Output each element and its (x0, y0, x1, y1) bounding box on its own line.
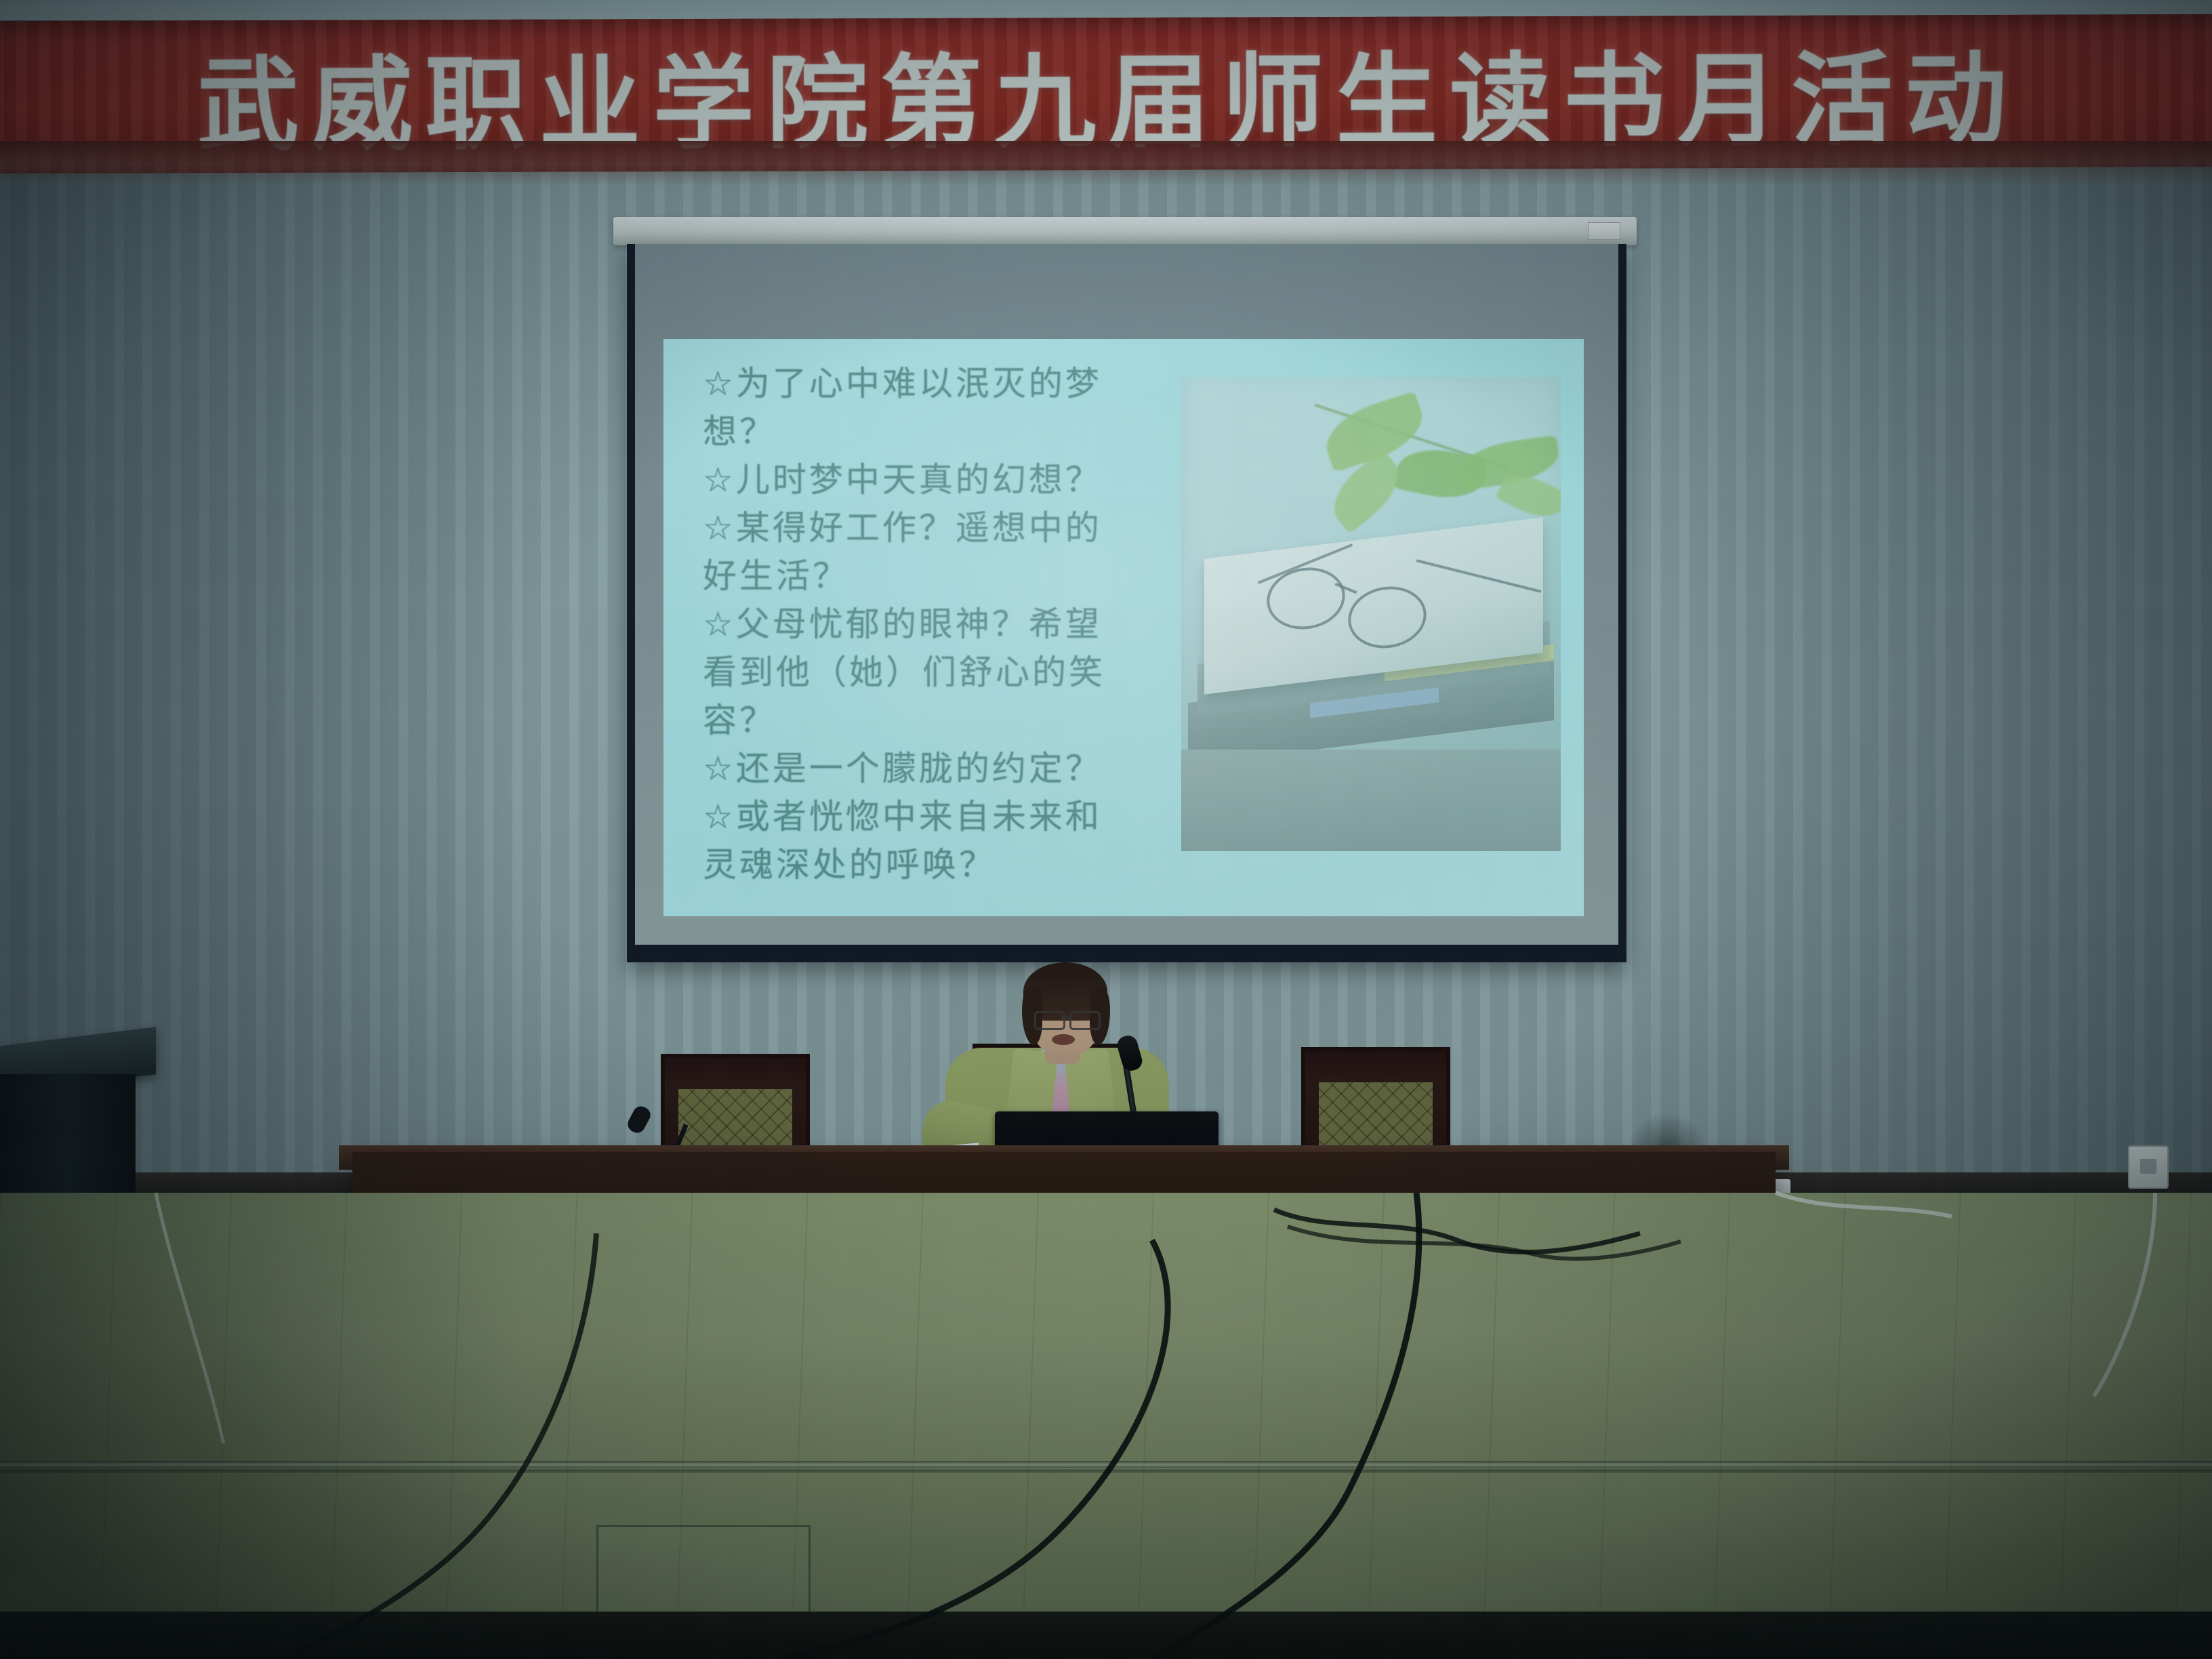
glasses-temple-right (1416, 559, 1541, 593)
speaker-glasses-left (1034, 1011, 1065, 1030)
slide-photo-books-and-glasses (1181, 377, 1561, 851)
slide-line: ☆还是一个朦胧的约定？ (703, 747, 1164, 791)
floor-cables (0, 1152, 2212, 1659)
slide-line: ☆为了心中难以泯灭的梦 (703, 362, 1164, 406)
slide-line: 灵魂深处的呼唤？ (703, 843, 1164, 887)
glasses-lens-left (1262, 562, 1350, 636)
slide-line: ☆或者恍惚中来自未来和 (703, 795, 1164, 839)
projected-slide: ☆为了心中难以泯灭的梦 想？ ☆儿时梦中天真的幻想？ ☆某得好工作？遥想中的 好… (663, 339, 1584, 916)
screen-roller-tab (1588, 222, 1620, 240)
slide-line: ☆某得好工作？遥想中的 (703, 506, 1164, 550)
speaker-mouth (1052, 1034, 1075, 1045)
projector-screen: ☆为了心中难以泯灭的梦 想？ ☆儿时梦中天真的幻想？ ☆某得好工作？遥想中的 好… (627, 244, 1626, 962)
slide-text-block: ☆为了心中难以泯灭的梦 想？ ☆儿时梦中天真的幻想？ ☆某得好工作？遥想中的 好… (703, 362, 1164, 891)
slide-line: 看到他（她）们舒心的笑 (703, 651, 1164, 695)
slide-line: ☆父母忧郁的眼神？希望 (703, 602, 1164, 647)
projector-screen-housing (613, 217, 1637, 245)
speaker-glasses-right (1069, 1011, 1101, 1030)
banner-lower-fold (0, 141, 2212, 186)
slide-line: 容？ (703, 699, 1164, 743)
eyeglasses-icon (1254, 552, 1546, 647)
slide-line: ☆儿时梦中天真的幻想？ (703, 458, 1164, 502)
banner-region: 武威职业学院第九届师生读书月活动 (0, 0, 2212, 210)
slide-line: 想？ (703, 410, 1164, 454)
photo-table-surface (1181, 750, 1561, 851)
photograph-scene: 武威职业学院第九届师生读书月活动 ☆为了心中难以泯灭的梦 想？ ☆儿时梦中天真的… (0, 0, 2212, 1659)
speaker-glasses-bridge (1061, 1017, 1071, 1019)
slide-line: 好生活？ (703, 554, 1164, 598)
